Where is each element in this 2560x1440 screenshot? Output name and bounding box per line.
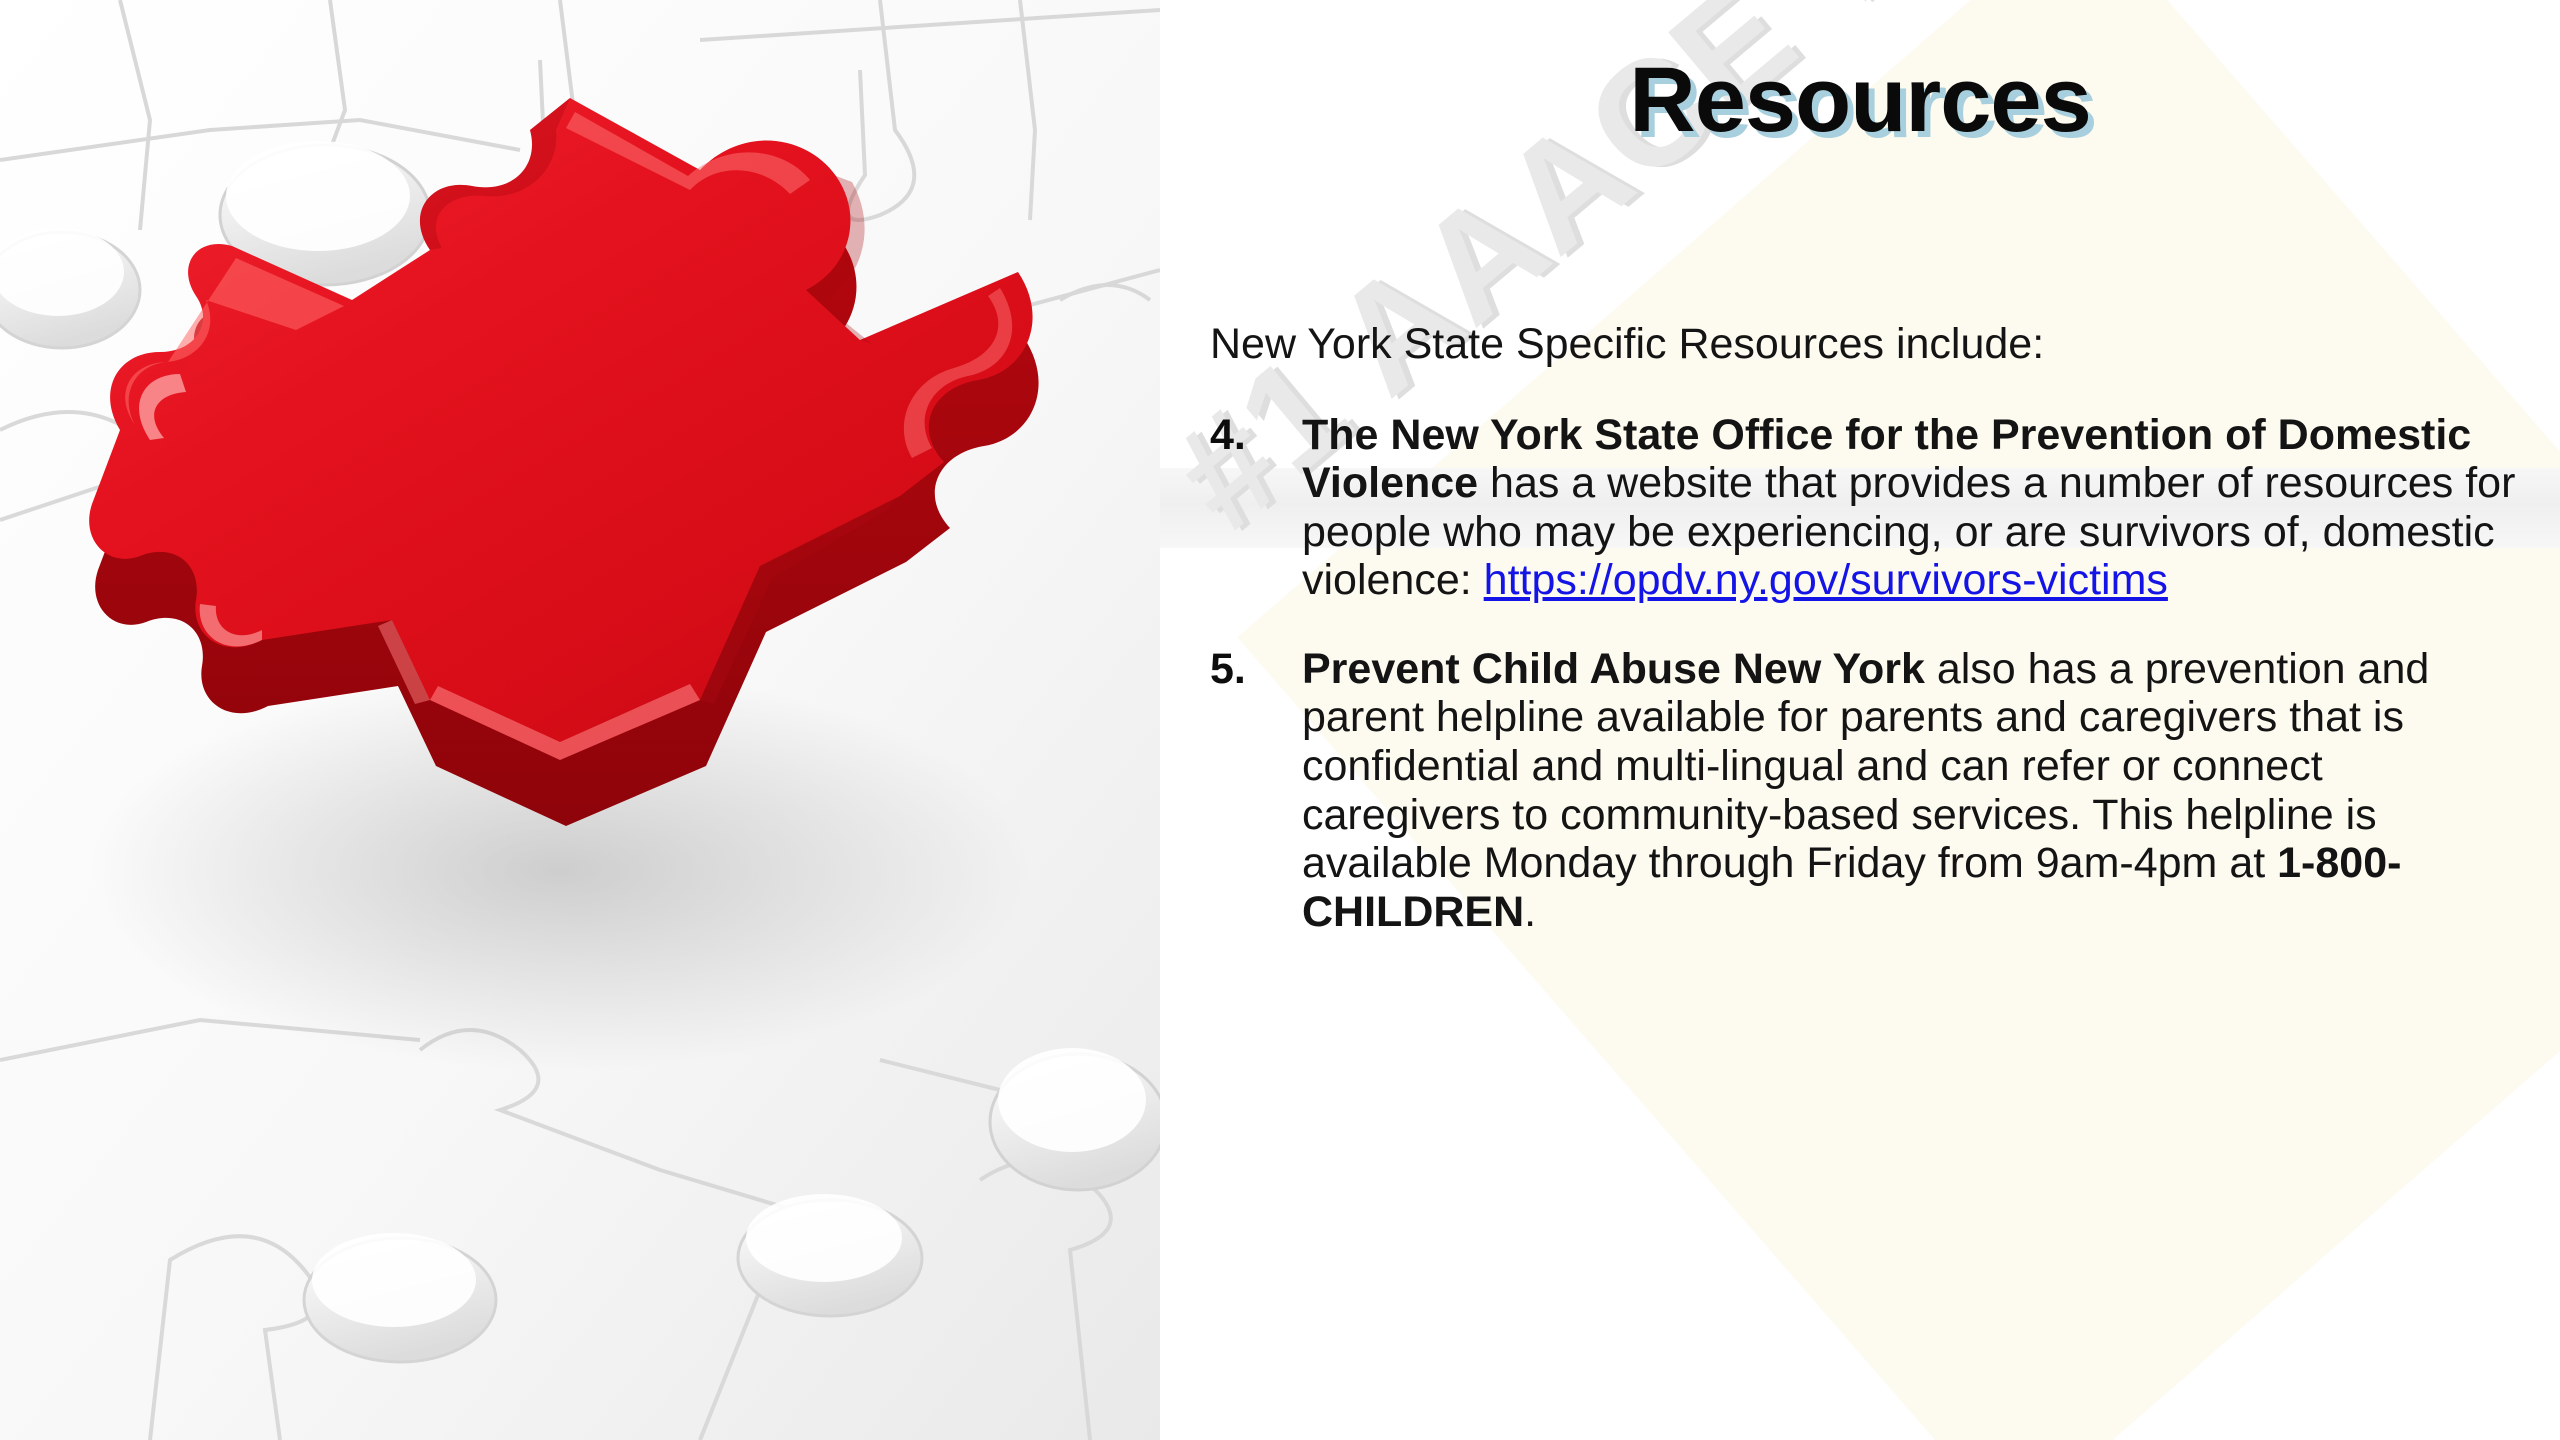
list-item-text: Prevent Child Abuse New York also has a … (1302, 645, 2520, 936)
list-item-tail: . (1524, 888, 1536, 936)
page-title: Resources (1160, 48, 2560, 153)
list-item: 5. Prevent Child Abuse New York also has… (1210, 645, 2520, 936)
intro-line: New York State Specific Resources includ… (1210, 320, 2520, 369)
body-content: New York State Specific Resources includ… (1210, 320, 2520, 976)
content-pane: #1 AAACE Training Resources New York Sta… (1160, 0, 2560, 1440)
puzzle-illustration (0, 0, 1160, 1440)
jigsaw-puzzle-image (0, 0, 1160, 1440)
list-item-number: 4. (1210, 411, 1302, 460)
list-item-bold-lead: Prevent Child Abuse New York (1302, 645, 1925, 693)
list-item-text: The New York State Office for the Preven… (1302, 411, 2520, 605)
list-item: 4. The New York State Office for the Pre… (1210, 411, 2520, 605)
slide: #1 AAACE Training Resources New York Sta… (0, 0, 2560, 1440)
list-item-number: 5. (1210, 645, 1302, 694)
resource-link[interactable]: https://opdv.ny.gov/survivors-victims (1484, 556, 2168, 604)
